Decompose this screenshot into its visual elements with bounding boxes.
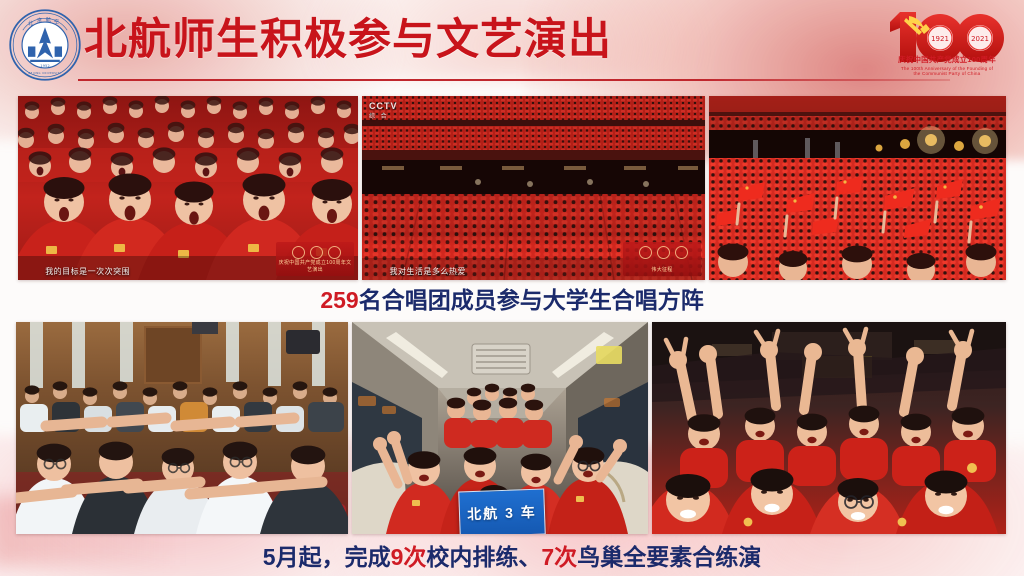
photo-subtitle-2: 我对生活是多么热爱 [389, 266, 466, 277]
svg-text:航: 航 [46, 15, 51, 23]
page-title: 北航师生积极参与文艺演出 [84, 8, 612, 72]
photo-bus: 北航 3 车 [352, 322, 648, 534]
caption-bottom: 5月起，完成9次校内排练、7次鸟巢全要素合练演 [0, 543, 1024, 571]
photo-choir-closeup: 庆祝中国共产党成立100周年文艺演出 我的目标是一次次突围 [18, 96, 358, 280]
cpc-100th-anniversary-badge: 1921 2021 庆祝中国共产党成立100周年 The 100th Anniv… [876, 2, 1018, 86]
caption-bottom-highlight2: 7次 [541, 544, 577, 570]
cpc-year-right: 2021 [971, 35, 989, 43]
photo-rehearsal [16, 322, 348, 534]
cpc-year-left: 1921 [931, 35, 949, 43]
bus-number-sign-text: 北航 3 车 [459, 502, 544, 525]
title-underline-rule [78, 79, 950, 81]
svg-text:北: 北 [28, 19, 34, 27]
slide-canvas: 北京 航空 1952 BEIJING UNIVERSITY 北航师生积极参与文艺… [0, 0, 1024, 576]
caption-bottom-part2: 校内排练、 [426, 544, 541, 570]
logo-year: 1952 [40, 64, 49, 68]
svg-text:京: 京 [37, 16, 42, 24]
corner-badge-1: 庆祝中国共产党成立100周年文艺演出 [276, 242, 354, 276]
broadcast-logo-2: CCTV 综 合 [369, 101, 398, 120]
corner-badge-text-1: 庆祝中国共产党成立100周年文艺演出 [276, 259, 354, 273]
caption-middle-highlight: 259 [320, 287, 358, 313]
caption-middle-text: 名合唱团成员参与大学生合唱方阵 [359, 287, 704, 313]
photo-choir-wide: CCTV 综 合 伟大征程 我对生活是多么热爱 [362, 96, 705, 280]
caption-middle: 259名合唱团成员参与大学生合唱方阵 [0, 286, 1024, 314]
caption-bottom-part1: 5月起，完成 [263, 544, 391, 570]
cpc-badge-line-cn: 庆祝中国共产党成立100周年 [876, 54, 1018, 65]
cpc-badge-line-en-2: the Communist Party of China [876, 71, 1018, 76]
photo-subtitle-1: 我的目标是一次次突围 [45, 266, 130, 277]
bus-number-sign: 北航 3 车 [458, 489, 546, 534]
svg-text:空: 空 [54, 18, 59, 26]
photo-flag-crowd [709, 96, 1006, 280]
corner-badge-2: 伟大征程 [623, 242, 701, 276]
broadcast-logo-text-2: CCTV [369, 101, 398, 111]
buaa-logo-icon: 北京 航空 1952 BEIJING UNIVERSITY [8, 8, 82, 82]
broadcast-logo-sub-2: 综 合 [369, 111, 398, 120]
caption-bottom-part3: 鸟巢全要素合练演 [577, 544, 761, 570]
corner-badge-text-2: 伟大征程 [623, 266, 701, 273]
logo-motto: BEIJING UNIVERSITY [29, 71, 62, 75]
caption-bottom-highlight1: 9次 [391, 544, 427, 570]
slide-header: 北京 航空 1952 BEIJING UNIVERSITY 北航师生积极参与文艺… [0, 0, 1024, 92]
photo-selfie [652, 322, 1006, 534]
